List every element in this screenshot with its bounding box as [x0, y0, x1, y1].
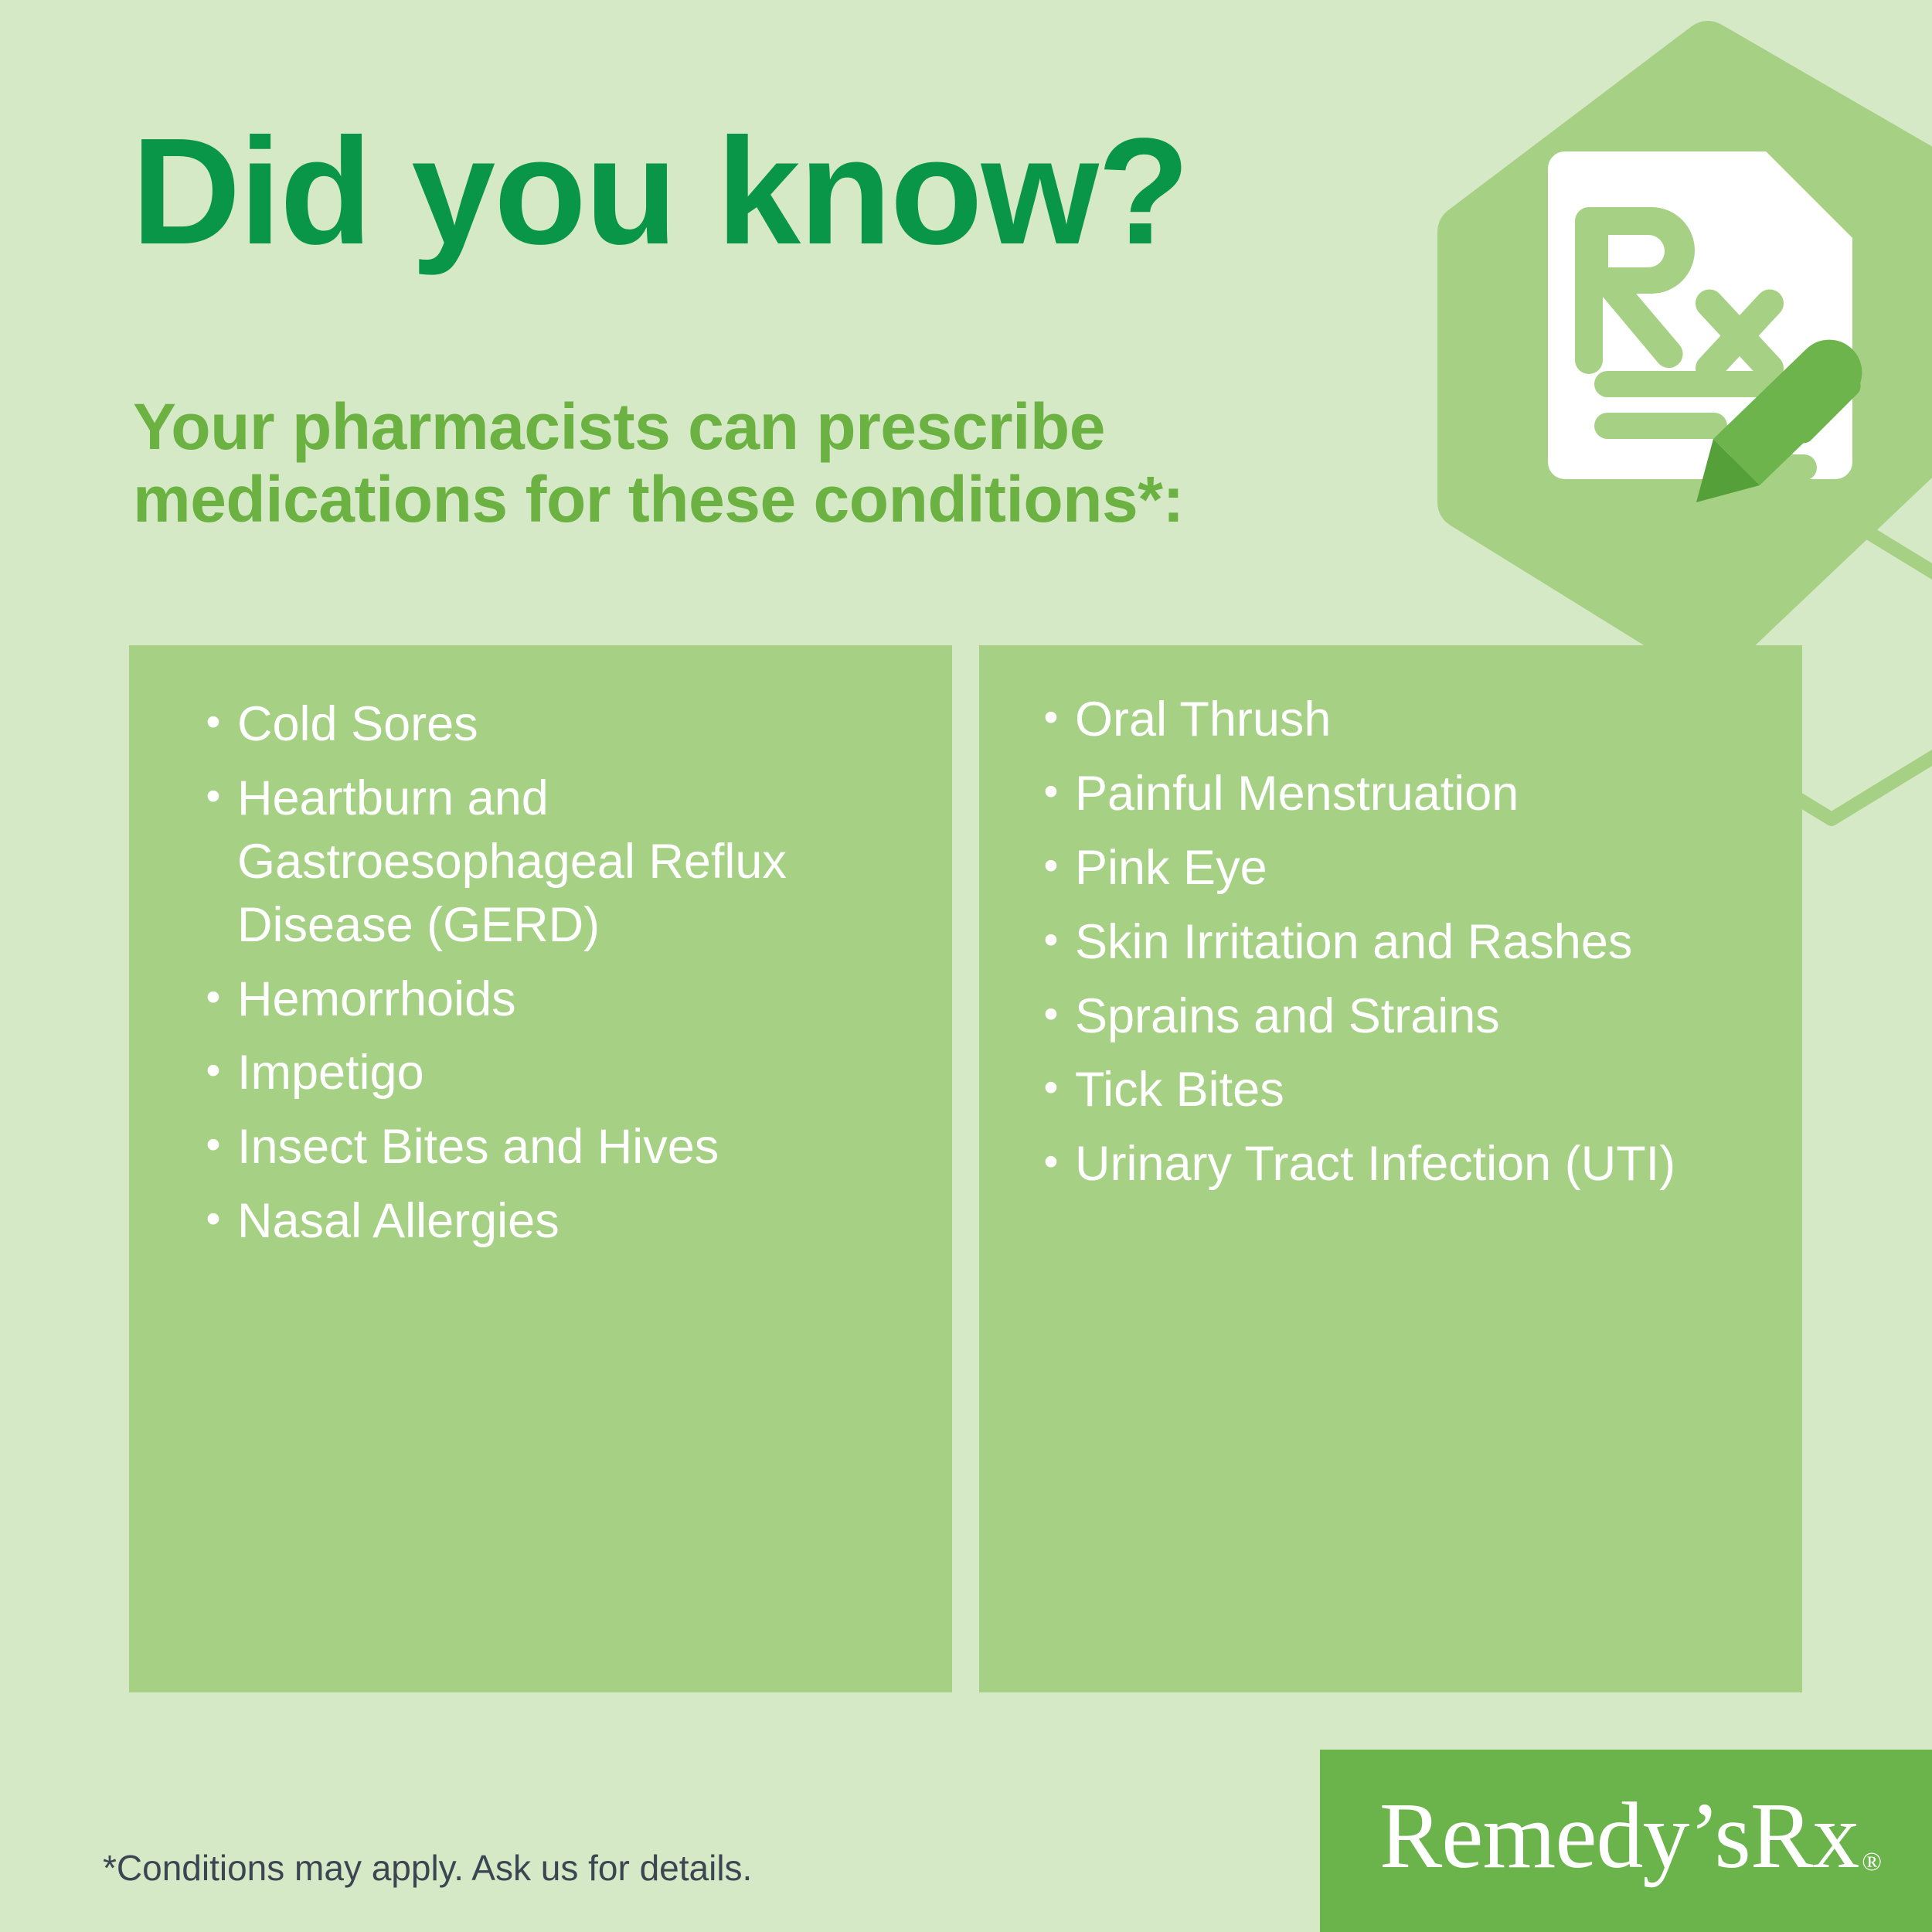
- list-item: • Pink Eye: [1027, 837, 1784, 900]
- page-title: Did you know?: [131, 116, 1189, 267]
- list-item: • Skin Irritation and Rashes: [1027, 911, 1784, 975]
- page-subtitle: Your pharmacists can prescribe medicatio…: [133, 390, 1184, 536]
- bullet-icon: •: [189, 1190, 237, 1248]
- condition-label: Hemorrhoids: [237, 968, 934, 1032]
- bullet-icon: •: [189, 693, 237, 751]
- condition-label: Insect Bites and Hives: [237, 1116, 934, 1179]
- bullet-icon: •: [1027, 911, 1075, 969]
- bullet-icon: •: [1027, 1059, 1075, 1117]
- list-item: • Cold Sores: [189, 693, 934, 757]
- brand-logo-block: Remedy’sRx ®: [1320, 1750, 1932, 1932]
- bullet-icon: •: [189, 968, 237, 1026]
- list-item: • Urinary Tract Infection (UTI): [1027, 1133, 1784, 1196]
- list-item: • Painful Menstruation: [1027, 763, 1784, 826]
- condition-label: Heartburn and Gastroesophageal Reflux Di…: [237, 767, 934, 957]
- conditions-list-right: • Oral Thrush • Painful Menstruation • P…: [1027, 689, 1784, 1207]
- bullet-icon: •: [1027, 689, 1075, 747]
- bullet-icon: •: [189, 1116, 237, 1174]
- brand-wordmark: Remedy’sRx: [1379, 1789, 1859, 1883]
- bullet-icon: •: [189, 767, 237, 825]
- document-line-2: [1594, 413, 1727, 439]
- bullet-icon: •: [1027, 763, 1075, 821]
- condition-label: Impetigo: [237, 1042, 934, 1105]
- bullet-icon: •: [1027, 985, 1075, 1043]
- footnote-disclaimer: *Conditions may apply. Ask us for detail…: [103, 1847, 752, 1889]
- list-item: • Nasal Allergies: [189, 1190, 934, 1253]
- condition-label: Painful Menstruation: [1075, 763, 1784, 826]
- registered-trademark-icon: ®: [1862, 1849, 1882, 1876]
- condition-label: Tick Bites: [1075, 1059, 1784, 1122]
- list-item: • Hemorrhoids: [189, 968, 934, 1032]
- document-folded-corner: [1766, 151, 1852, 238]
- rx-document-icon: [1534, 147, 1905, 510]
- condition-label: Urinary Tract Infection (UTI): [1075, 1133, 1784, 1196]
- list-item: • Insect Bites and Hives: [189, 1116, 934, 1179]
- condition-label: Pink Eye: [1075, 837, 1784, 900]
- condition-label: Cold Sores: [237, 693, 934, 757]
- bullet-icon: •: [1027, 1133, 1075, 1191]
- condition-label: Sprains and Strains: [1075, 985, 1784, 1049]
- condition-label: Skin Irritation and Rashes: [1075, 911, 1784, 975]
- bullet-icon: •: [1027, 837, 1075, 895]
- list-item: • Tick Bites: [1027, 1059, 1784, 1122]
- list-item: • Oral Thrush: [1027, 689, 1784, 752]
- conditions-panels: • Cold Sores • Heartburn and Gastroesoph…: [129, 645, 1802, 1692]
- poster-canvas: Did you know? Your pharmacists can presc…: [0, 0, 1932, 1932]
- page-subtitle-line-2: medications for these conditions*:: [133, 463, 1184, 536]
- list-item: • Sprains and Strains: [1027, 985, 1784, 1049]
- list-item: • Impetigo: [189, 1042, 934, 1105]
- conditions-panel-left: • Cold Sores • Heartburn and Gastroesoph…: [129, 645, 952, 1692]
- bullet-icon: •: [189, 1042, 237, 1100]
- page-subtitle-line-1: Your pharmacists can prescribe: [133, 390, 1184, 463]
- condition-label: Nasal Allergies: [237, 1190, 934, 1253]
- condition-label: Oral Thrush: [1075, 689, 1784, 752]
- conditions-panel-right: • Oral Thrush • Painful Menstruation • P…: [979, 645, 1802, 1692]
- list-item: • Heartburn and Gastroesophageal Reflux …: [189, 767, 934, 957]
- conditions-list-left: • Cold Sores • Heartburn and Gastroesoph…: [189, 693, 934, 1264]
- logo-wrap: Remedy’sRx ®: [1379, 1789, 1882, 1883]
